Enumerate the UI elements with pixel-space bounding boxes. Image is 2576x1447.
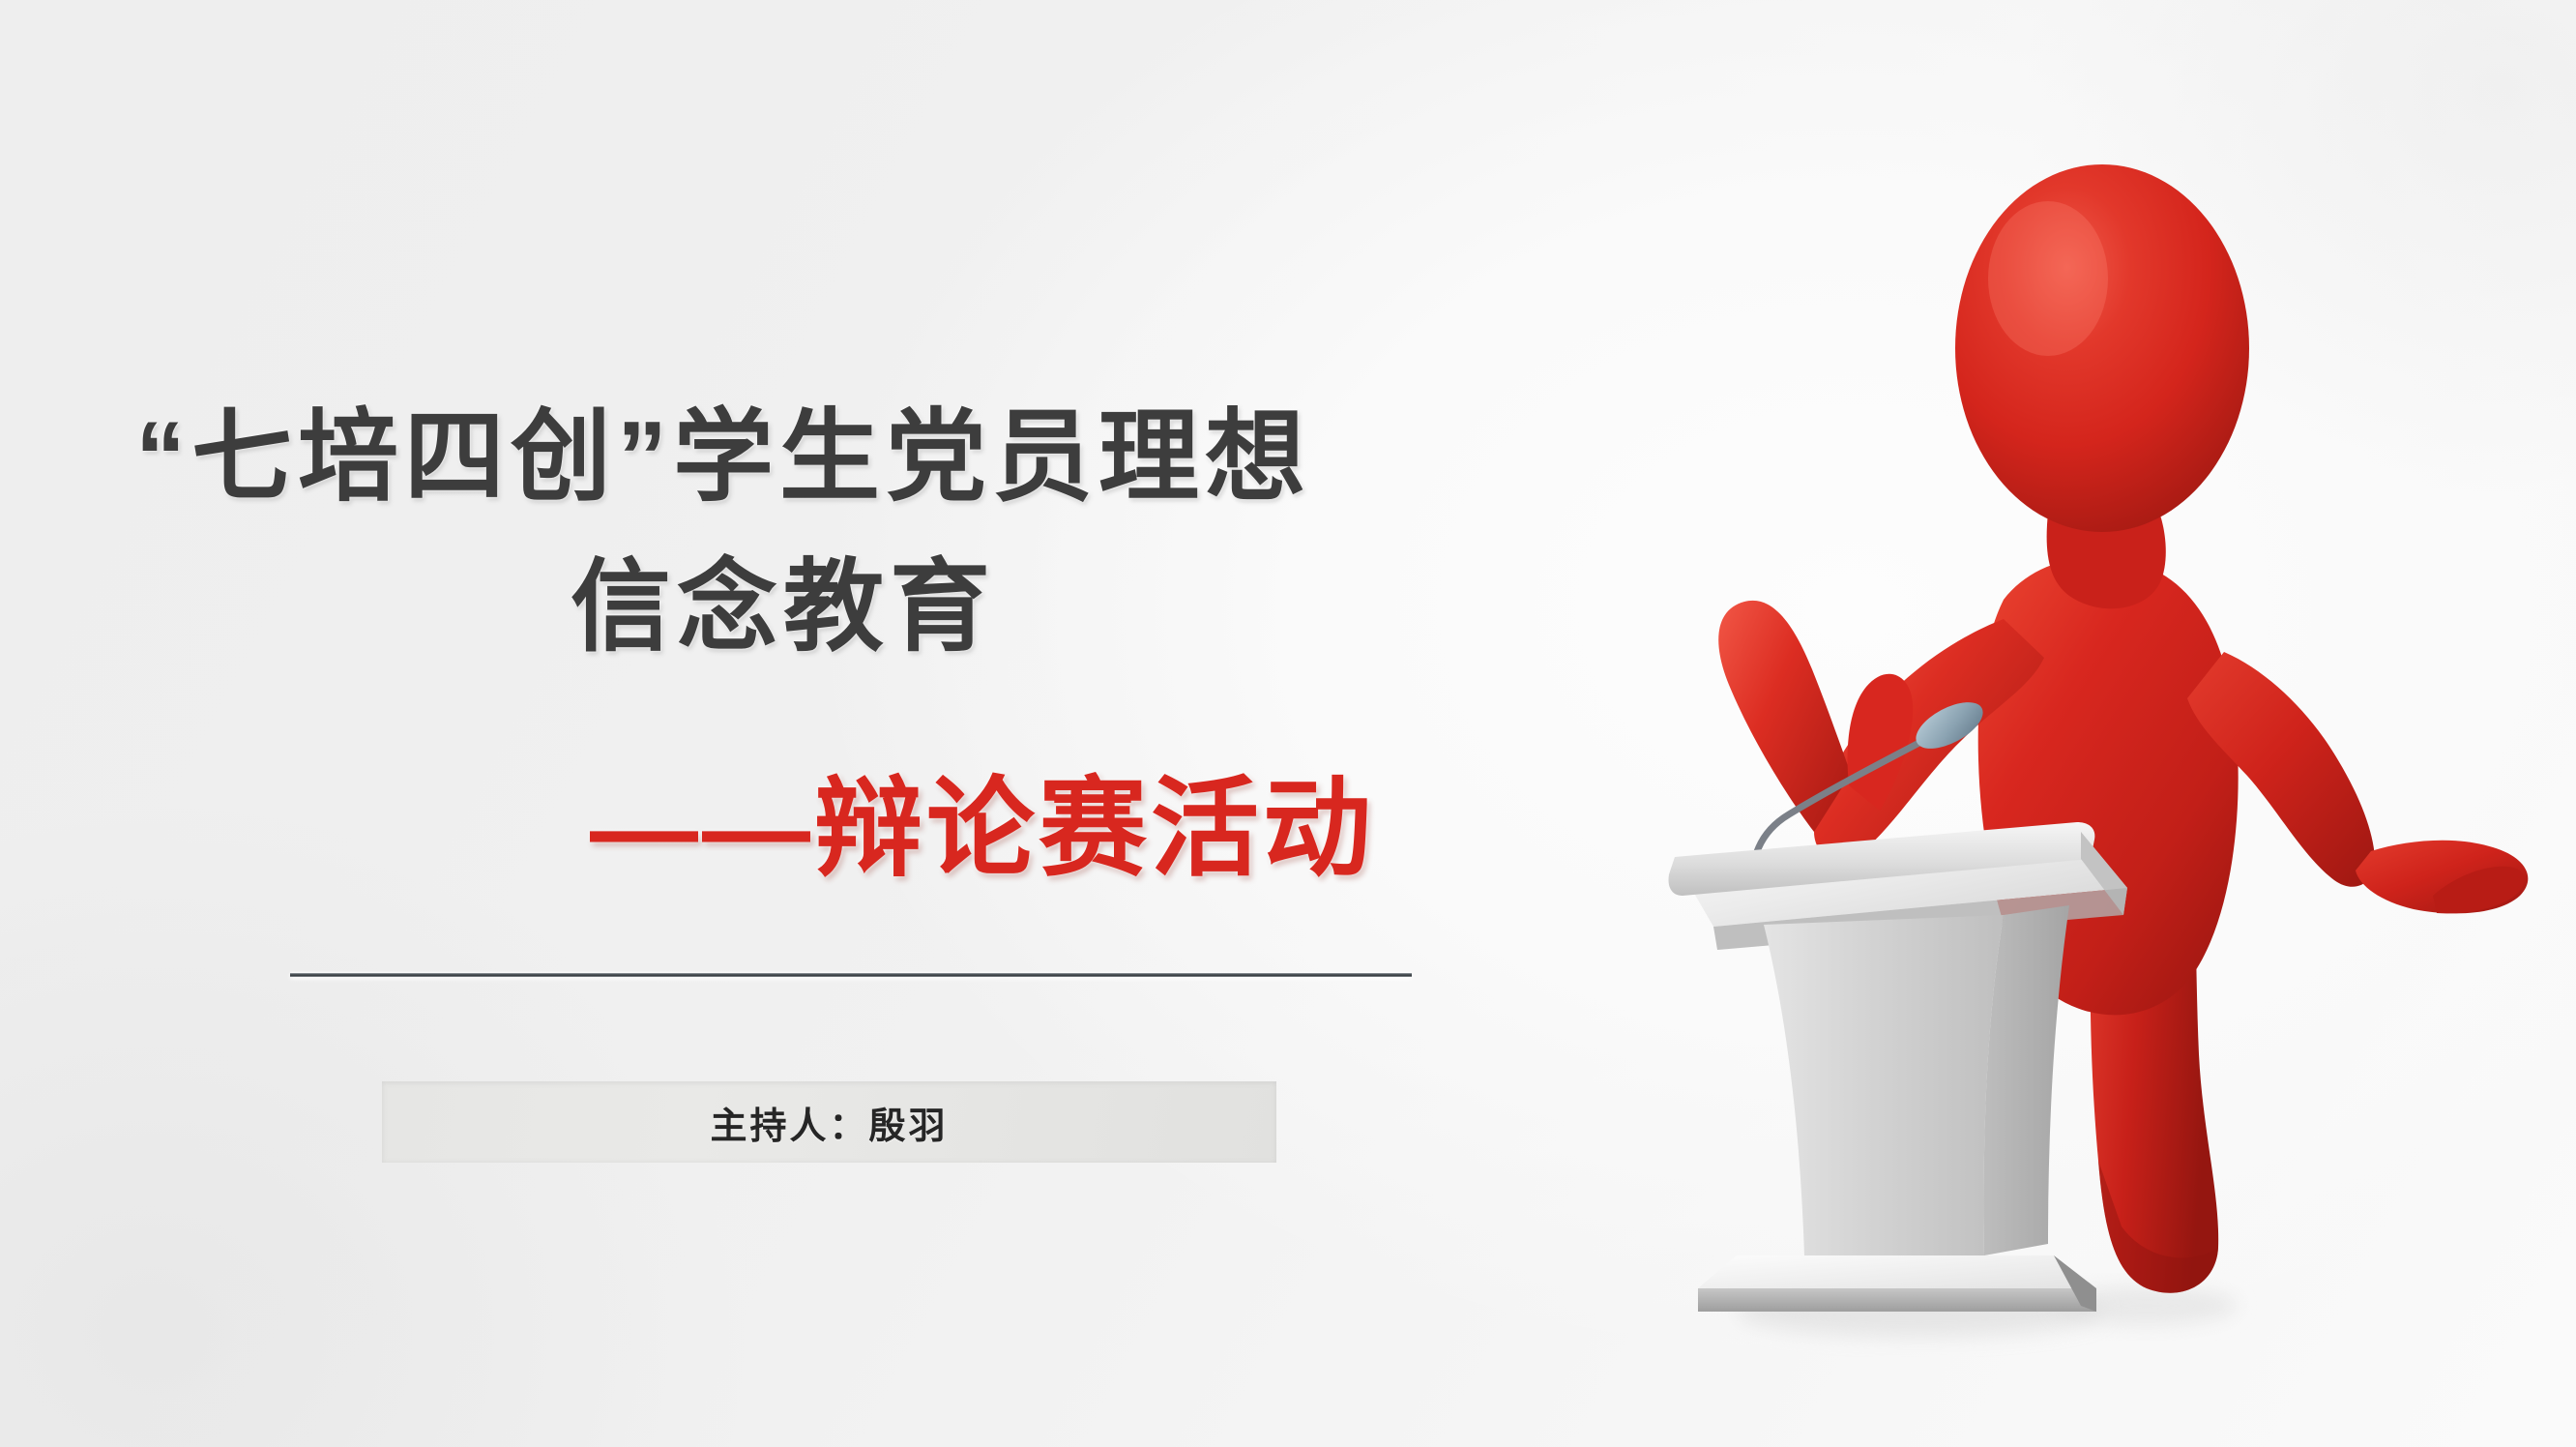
figure-left-hand [1718,601,1851,832]
horizontal-divider [290,973,1412,977]
presenter-label: 主持人：殷羽 [710,1096,948,1149]
slide-title-line-2: 信念教育 [571,551,996,664]
podium-base-top [1698,1255,2096,1288]
speaker-illustration [1644,58,2576,1393]
title-text-block: “七培四创”学生党员理想 信念教育 ——辩论赛活动 主持人：殷羽 [0,0,1586,1447]
presenter-bar: 主持人：殷羽 [382,1081,1276,1163]
slide-subtitle: ——辩论赛活动 [590,769,1375,888]
figure-head [1955,164,2249,532]
slide-title-line-1: “七培四创”学生党员理想 [135,401,1311,514]
figure-head-highlight [1988,201,2108,356]
podium-base-edge [1698,1288,2096,1312]
white-podium [1669,822,2127,1312]
podium-pedestal-front [1764,915,2004,1255]
presentation-slide: “七培四创”学生党员理想 信念教育 ——辩论赛活动 主持人：殷羽 [0,0,2576,1447]
